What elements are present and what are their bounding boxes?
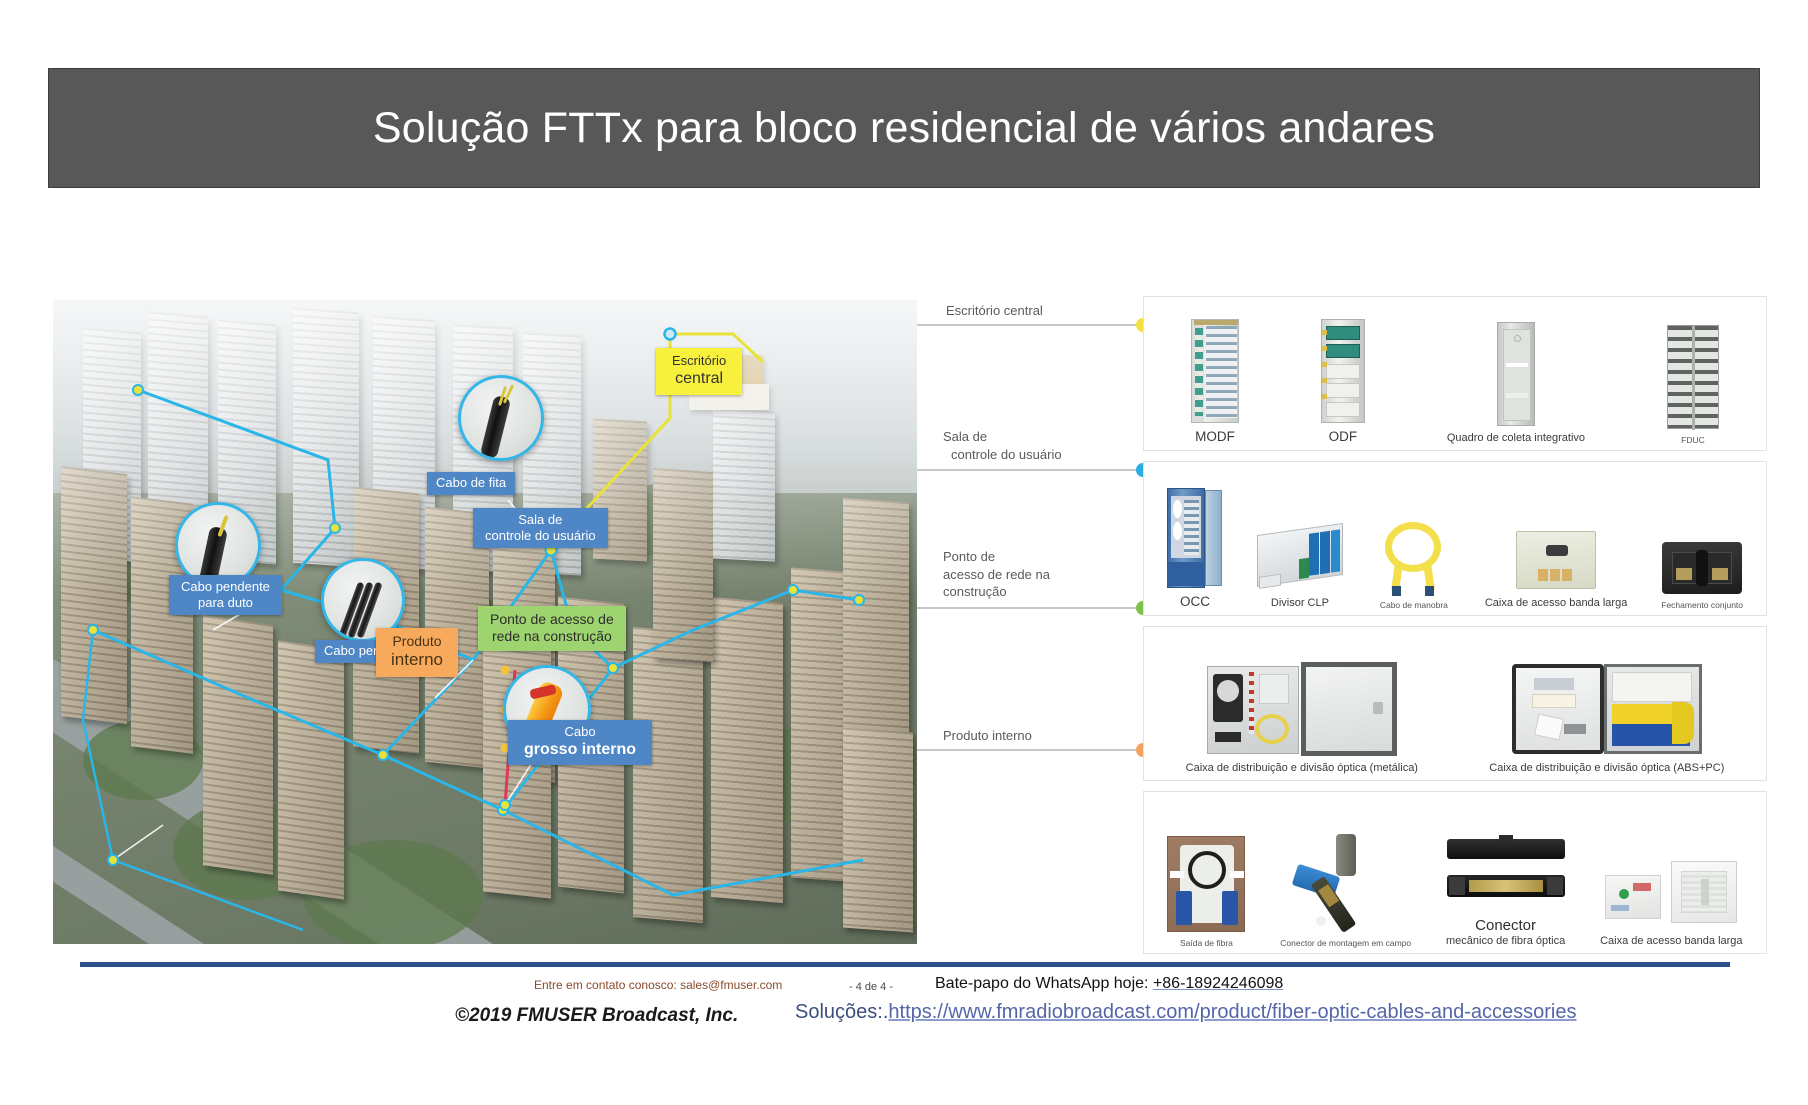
photo-tag-escritorio-central: Escritório central bbox=[656, 348, 742, 395]
product-image-caixa-acesso-banda-larga bbox=[1516, 531, 1596, 591]
fiber-node-floor bbox=[501, 666, 510, 675]
product-item: Saída de fibra bbox=[1167, 800, 1245, 949]
connector-label-sala-de-controle-do-usuario: Sala de controle do usuário bbox=[943, 428, 1062, 463]
cable-core bbox=[529, 684, 557, 700]
title-bar: Solução FTTx para bloco residencial de v… bbox=[48, 68, 1760, 188]
product-image-caixa-acesso-banda-larga-2 bbox=[1605, 853, 1737, 929]
product-image-conector-mecanico bbox=[1447, 835, 1565, 911]
page-title: Solução FTTx para bloco residencial de v… bbox=[373, 104, 1435, 153]
fiber-node-central-office bbox=[665, 329, 676, 340]
footer-solutions-link[interactable]: https://www.fmradiobroadcast.com/product… bbox=[888, 1001, 1576, 1023]
product-item: MODF bbox=[1191, 305, 1239, 446]
footer-page-number: - 4 de 4 - bbox=[849, 981, 893, 993]
product-item: ODF bbox=[1321, 305, 1365, 446]
product-image-caixa-distribuicao-metalica bbox=[1207, 662, 1397, 756]
footer-whatsapp: Bate-papo do WhatsApp hoje: +86-18924246… bbox=[935, 975, 1283, 993]
product-item: Cabo de manobra bbox=[1377, 470, 1451, 611]
product-panel-ponto-de-acesso: Caixa de distribuição e divisão óptica (… bbox=[1143, 626, 1767, 781]
product-caption: Quadro de coleta integrativo bbox=[1447, 432, 1585, 446]
fiber-node bbox=[788, 585, 798, 595]
product-image-conector-montagem-campo bbox=[1290, 832, 1402, 932]
product-item: Quadro de coleta integrativo bbox=[1447, 305, 1585, 446]
product-item: Conector mecânico de fibra óptica bbox=[1446, 800, 1565, 949]
product-panel-escritorio-central: MODF ODF bbox=[1143, 296, 1767, 451]
product-caption-sub: mecânico de fibra óptica bbox=[1446, 935, 1565, 947]
connector-label-ponto-de-acesso: Ponto de acesso de rede na construção bbox=[943, 548, 1050, 601]
product-item: Conector de montagem em campo bbox=[1280, 800, 1411, 949]
product-panel-sala-de-controle: OCC Divisor CLP bbox=[1143, 461, 1767, 616]
product-caption: Conector mecânico de fibra óptica bbox=[1446, 917, 1565, 950]
product-item: Caixa de acesso banda larga bbox=[1600, 800, 1742, 949]
product-caption: FDUC bbox=[1681, 435, 1705, 446]
magnifier-cabo-de-fita bbox=[458, 375, 544, 461]
footer-solutions: Soluções:.https://www.fmradiobroadcast.c… bbox=[795, 1001, 1576, 1024]
photo-tag-ponto-acesso-rede-construcao: Ponto de acesso de rede na construção bbox=[478, 606, 626, 651]
connector-label-produto-interno: Produto interno bbox=[943, 727, 1032, 745]
fiber-node bbox=[854, 595, 864, 605]
fiber-drop-white bbox=[113, 825, 163, 860]
fiber-node bbox=[108, 855, 118, 865]
product-caption: OCC bbox=[1180, 594, 1210, 611]
product-image-divisor-plc bbox=[1257, 529, 1343, 591]
product-item: Fechamento conjunto bbox=[1661, 470, 1743, 611]
fiber-node bbox=[500, 800, 510, 810]
product-item: Caixa de acesso banda larga bbox=[1485, 470, 1627, 611]
product-caption: Saída de fibra bbox=[1180, 938, 1233, 949]
product-item: Caixa de distribuição e divisão óptica (… bbox=[1186, 635, 1418, 776]
product-caption: Conector de montagem em campo bbox=[1280, 938, 1411, 949]
photo-tag-sala-controle-usuario: Sala de controle do usuário bbox=[473, 508, 608, 548]
product-image-occ bbox=[1167, 488, 1223, 588]
fiber-node bbox=[133, 385, 143, 395]
product-image-quadro-coleta bbox=[1497, 322, 1535, 426]
product-item: Caixa de distribuição e divisão óptica (… bbox=[1489, 635, 1724, 776]
footer-solutions-label: Soluções:. bbox=[795, 1001, 888, 1023]
footer-contact: Entre em contato conosco: sales@fmuser.c… bbox=[534, 978, 782, 992]
connector-leader-lines bbox=[917, 295, 1147, 945]
product-caption: Divisor CLP bbox=[1271, 597, 1329, 611]
slide-root: Solução FTTx para bloco residencial de v… bbox=[0, 0, 1808, 1105]
product-caption: Cabo de manobra bbox=[1380, 600, 1448, 611]
product-item: Divisor CLP bbox=[1257, 470, 1343, 611]
fiber-node bbox=[330, 523, 340, 533]
product-caption: Caixa de distribuição e divisão óptica (… bbox=[1186, 762, 1418, 776]
product-panel-produto-interno: Saída de fibra Conector de montagem em c… bbox=[1143, 791, 1767, 954]
fiber-node bbox=[378, 750, 388, 760]
product-image-modf bbox=[1191, 319, 1239, 423]
aerial-photo-panel: Cabo de fita Escritório central Sala de … bbox=[53, 300, 917, 944]
product-image-fechamento-conjunto bbox=[1662, 542, 1742, 594]
product-caption: Caixa de distribuição e divisão óptica (… bbox=[1489, 762, 1724, 776]
product-item: FDUC bbox=[1667, 305, 1719, 446]
footer-whatsapp-label: Bate-papo do WhatsApp hoje: bbox=[935, 975, 1148, 992]
fiber-node bbox=[608, 663, 618, 673]
product-image-caixa-distribuicao-abs-pc bbox=[1512, 662, 1702, 756]
photo-tag-cabo-pendente-para-duto: Cabo pendente para duto bbox=[169, 575, 282, 615]
photo-tag-produto-interno: Produto interno bbox=[376, 628, 458, 677]
footer-whatsapp-number[interactable]: +86-18924246098 bbox=[1153, 975, 1283, 992]
fiber-node bbox=[88, 625, 98, 635]
fiber-line-cyan bbox=[503, 810, 863, 895]
product-caption-title: Conector bbox=[1446, 917, 1565, 936]
connector-column: Escritório central Sala de controle do u… bbox=[917, 295, 1147, 945]
product-item: OCC bbox=[1167, 470, 1223, 611]
product-caption: Fechamento conjunto bbox=[1661, 600, 1743, 611]
product-caption: MODF bbox=[1195, 429, 1235, 446]
product-caption: ODF bbox=[1329, 429, 1358, 446]
cable-illustration bbox=[480, 395, 511, 459]
product-image-fduc bbox=[1667, 325, 1719, 429]
product-caption: Caixa de acesso banda larga bbox=[1485, 597, 1627, 611]
product-caption: Caixa de acesso banda larga bbox=[1600, 935, 1742, 949]
footer-copyright: ©2019 FMUSER Broadcast, Inc. bbox=[455, 1005, 738, 1027]
product-image-cabo-de-manobra bbox=[1377, 520, 1451, 594]
product-image-saida-de-fibra bbox=[1167, 836, 1245, 932]
connector-label-escritorio-central: Escritório central bbox=[946, 302, 1043, 320]
photo-tag-cabo-de-fita: Cabo de fita bbox=[427, 472, 515, 495]
footer-divider bbox=[80, 962, 1730, 967]
photo-tag-cabo-grosso-interno: Cabo grosso interno bbox=[508, 720, 652, 765]
product-image-odf bbox=[1321, 319, 1365, 423]
